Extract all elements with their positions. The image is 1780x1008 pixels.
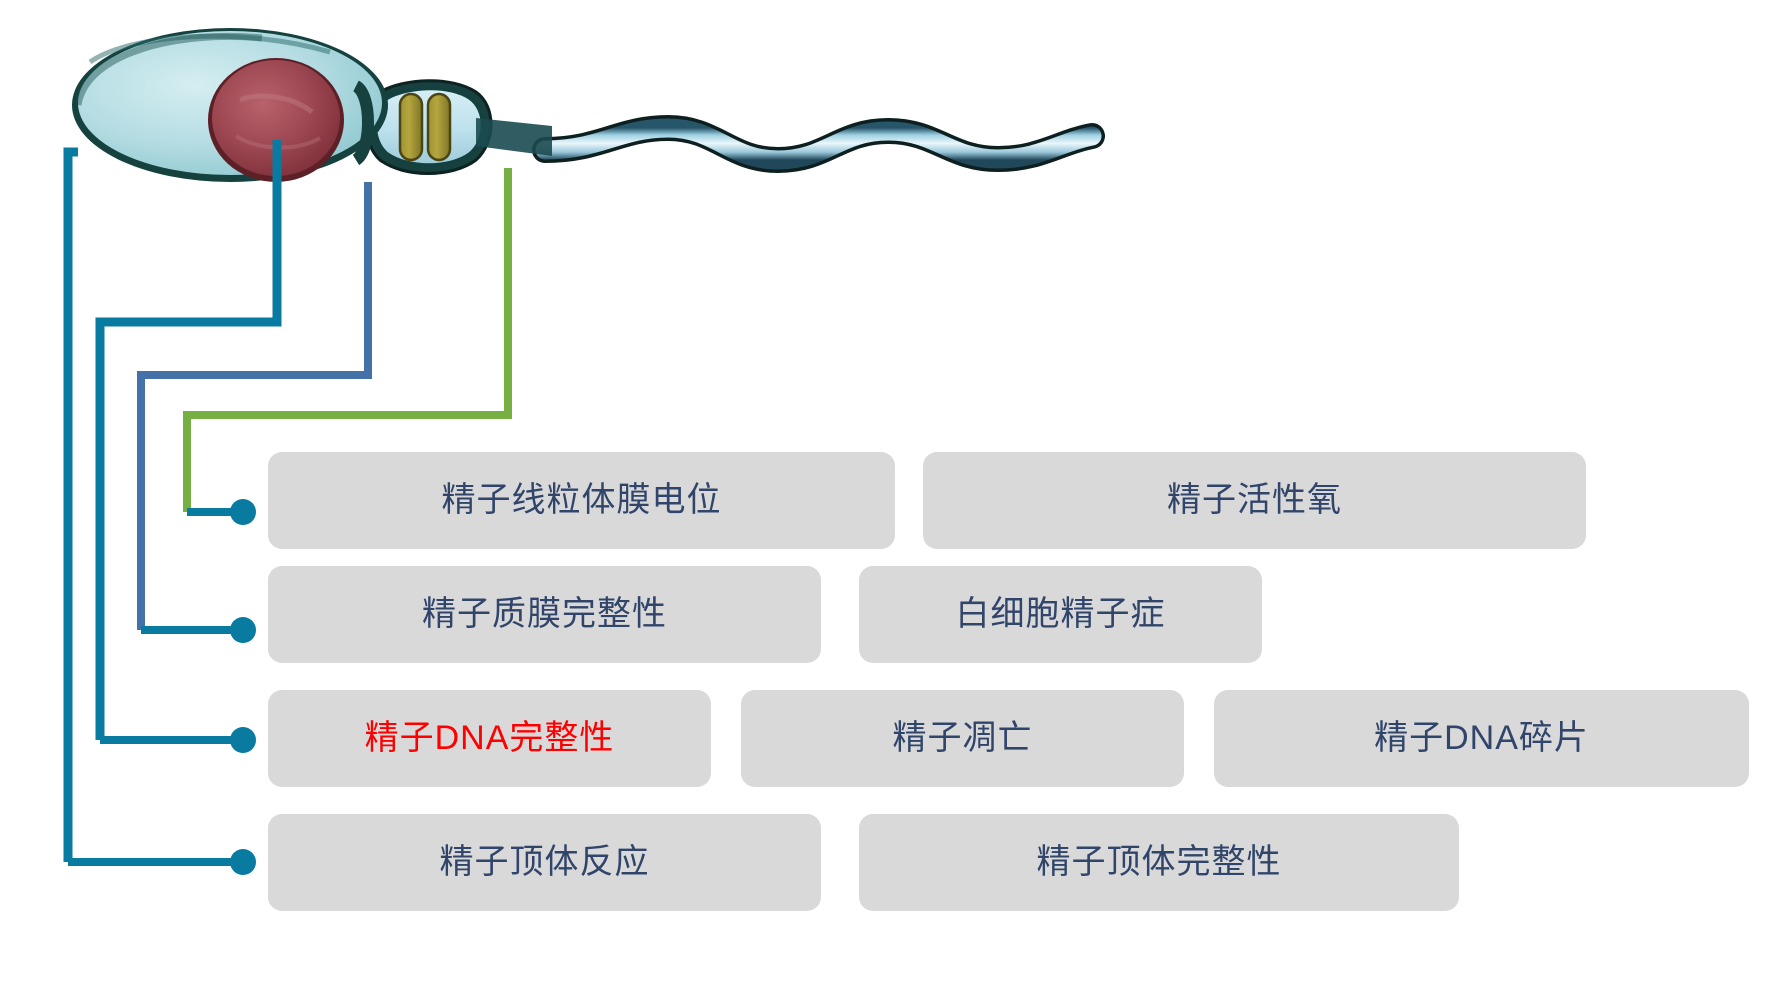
row-gap <box>821 566 859 663</box>
sperm-mitochondria-icon <box>428 94 450 160</box>
row-gap <box>1184 690 1214 787</box>
indicator-row-3: 精子DNA完整性 精子凋亡 精子DNA碎片 <box>268 690 1749 787</box>
indicator-row-2: 精子质膜完整性 白细胞精子症 <box>268 566 1262 663</box>
indicator-box-dna-fragmentation[interactable]: 精子DNA碎片 <box>1214 690 1749 787</box>
sperm-nucleus-icon <box>208 58 344 182</box>
sperm-tail-icon <box>545 128 1092 160</box>
indicator-box-leukocytospermia[interactable]: 白细胞精子症 <box>859 566 1262 663</box>
diagram-canvas: 精子线粒体膜电位 精子活性氧 精子质膜完整性 白细胞精子症 精子DNA完整性 精… <box>0 0 1780 1008</box>
connector-endpoint-row-1 <box>187 499 256 525</box>
connector-endpoint-row-2 <box>141 617 256 643</box>
row-gap <box>821 814 859 911</box>
row-gap <box>895 452 923 549</box>
indicator-box-mitochondrial-membrane-potential[interactable]: 精子线粒体膜电位 <box>268 452 895 549</box>
connector-line-plasma-membrane <box>141 182 368 630</box>
indicator-box-plasma-membrane-integrity[interactable]: 精子质膜完整性 <box>268 566 821 663</box>
connector-line-nucleus-dna <box>100 140 277 740</box>
row-gap <box>711 690 741 787</box>
connector-endpoint-row-4 <box>68 849 256 875</box>
connector-line-acrosome <box>68 152 78 862</box>
indicator-row-1: 精子线粒体膜电位 精子活性氧 <box>268 452 1586 549</box>
sperm-mitochondria-icon <box>400 94 422 160</box>
indicator-box-dna-integrity[interactable]: 精子DNA完整性 <box>268 690 711 787</box>
indicator-box-acrosome-integrity[interactable]: 精子顶体完整性 <box>859 814 1459 911</box>
sperm-midpiece-icon <box>367 81 553 174</box>
sperm-head-icon <box>72 28 388 182</box>
indicator-row-4: 精子顶体反应 精子顶体完整性 <box>268 814 1459 911</box>
indicator-box-apoptosis[interactable]: 精子凋亡 <box>741 690 1184 787</box>
indicator-box-reactive-oxygen-species[interactable]: 精子活性氧 <box>923 452 1586 549</box>
connector-endpoint-row-3 <box>100 727 256 753</box>
indicator-box-acrosome-reaction[interactable]: 精子顶体反应 <box>268 814 821 911</box>
